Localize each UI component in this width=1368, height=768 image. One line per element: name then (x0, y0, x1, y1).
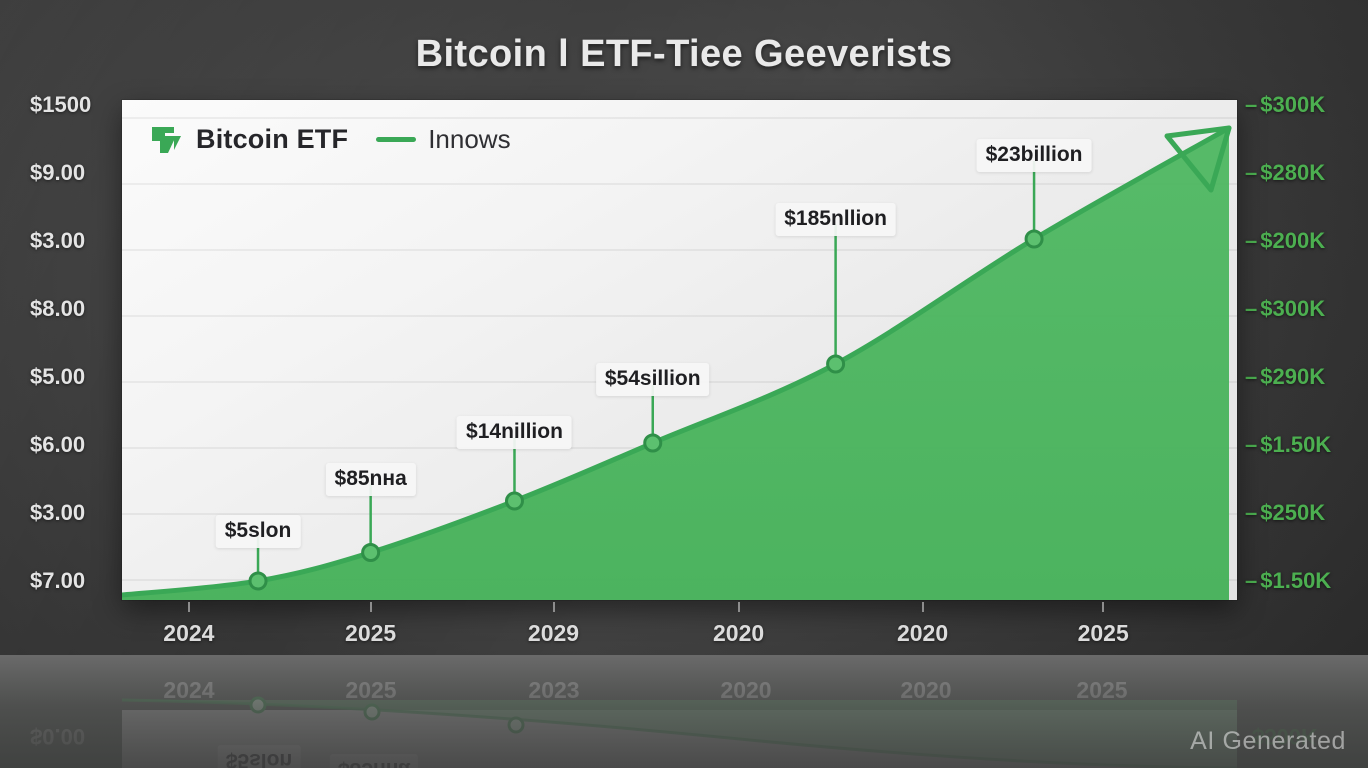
left-axis-tick: $1500 (30, 94, 91, 116)
ai-generated-watermark: AI Generated (1190, 727, 1346, 756)
x-axis-tick-mark (1102, 602, 1104, 612)
reflection-x-tick: 2020 (900, 677, 951, 704)
reflection-data-label: $85nнa (330, 754, 418, 768)
x-axis-tick: 2024 (163, 620, 214, 647)
right-axis-tick-value: $1.50K (1260, 568, 1331, 593)
data-point-marker[interactable] (250, 573, 266, 589)
bitcoin-etf-logo-icon (150, 122, 184, 156)
left-axis-tick: $3.00 (30, 230, 85, 252)
reflection-x-tick: 2024 (163, 677, 214, 704)
reflection-left-tick: $0.00 (30, 723, 85, 749)
left-axis-tick-labels: $1500 $9.00 $3.00 $8.00 $5.00 $6.00 $3.0… (30, 94, 122, 592)
data-point-marker[interactable] (506, 493, 522, 509)
reflection-x-tick: 2020 (720, 677, 771, 704)
right-axis-tick-value: $1.50K (1260, 432, 1331, 457)
right-axis-tick: –$200K (1245, 230, 1325, 252)
right-axis-tick-value: $250K (1260, 500, 1325, 525)
right-axis-tick-value: $300K (1260, 296, 1325, 321)
legend-brand-label: Bitcoin ETF (196, 124, 348, 155)
data-point-label: $14nillion (457, 416, 572, 449)
x-axis-tick: 2020 (897, 620, 948, 647)
data-point-marker[interactable] (828, 356, 844, 372)
reflection-curve (0, 655, 1368, 768)
x-axis-tick-mark (188, 602, 190, 612)
data-point-marker[interactable] (1026, 231, 1042, 247)
reflection-x-tick: 2025 (1076, 677, 1127, 704)
right-axis-tick: –$300K (1245, 298, 1325, 320)
chart-title: Bitcoin l ETF-Tiee Geeverists (0, 33, 1368, 76)
x-axis-tick: 2025 (1078, 620, 1129, 647)
left-axis-tick: $6.00 (30, 434, 85, 456)
data-point-label: $85nнa (326, 463, 416, 496)
right-axis-tick: –$1.50K (1245, 434, 1331, 456)
left-axis-tick: $3.00 (30, 502, 85, 524)
right-axis-tick: –$300K (1245, 94, 1325, 116)
data-point-marker[interactable] (363, 545, 379, 561)
x-axis-tick: 2025 (345, 620, 396, 647)
left-axis-tick: $5.00 (30, 366, 85, 388)
data-point-marker[interactable] (645, 435, 661, 451)
right-axis-tick-labels: –$300K –$280K –$200K –$300K –$290K –$1.5… (1245, 94, 1355, 592)
reflection-x-tick: 2025 (345, 677, 396, 704)
reflection-data-label: $5slon (218, 745, 301, 768)
chart-reflection: 2024 2025 2023 2020 2020 2025 $0.00 $500… (0, 655, 1368, 768)
right-axis-tick-value: $300K (1260, 92, 1325, 117)
x-axis-tick-mark (553, 602, 555, 612)
right-axis-tick-value: $290K (1260, 364, 1325, 389)
left-axis-tick: $7.00 (30, 570, 85, 592)
right-axis-tick: –$280K (1245, 162, 1325, 184)
right-axis-tick: –$290K (1245, 366, 1325, 388)
x-axis-tick-mark (370, 602, 372, 612)
chart-plot-area[interactable]: Bitcoin ETF Innows $5slon $85nнa $14nill… (122, 100, 1237, 600)
right-axis-tick: –$1.50K (1245, 570, 1331, 592)
x-axis-tick-labels: 2024 2025 2029 2020 2020 2025 (122, 614, 1237, 646)
right-axis-tick: –$250K (1245, 502, 1325, 524)
right-axis-tick-value: $280K (1260, 160, 1325, 185)
data-point-label: $185nllion (775, 203, 896, 236)
left-axis-tick: $9.00 (30, 162, 85, 184)
x-axis-tick: 2029 (528, 620, 579, 647)
data-point-label: $23billion (977, 139, 1092, 172)
reflection-x-tick: 2023 (528, 677, 579, 704)
left-axis-tick: $8.00 (30, 298, 85, 320)
x-axis-tick-mark (922, 602, 924, 612)
line-swatch-icon (376, 137, 416, 142)
legend-series-label: Innows (428, 124, 510, 155)
chart-legend: Bitcoin ETF Innows (150, 122, 511, 156)
right-axis-tick-value: $200K (1260, 228, 1325, 253)
data-point-label: $5slon (216, 515, 301, 548)
data-point-label: $54sillion (596, 363, 710, 396)
x-axis-tick-mark (738, 602, 740, 612)
x-axis-tick: 2020 (713, 620, 764, 647)
